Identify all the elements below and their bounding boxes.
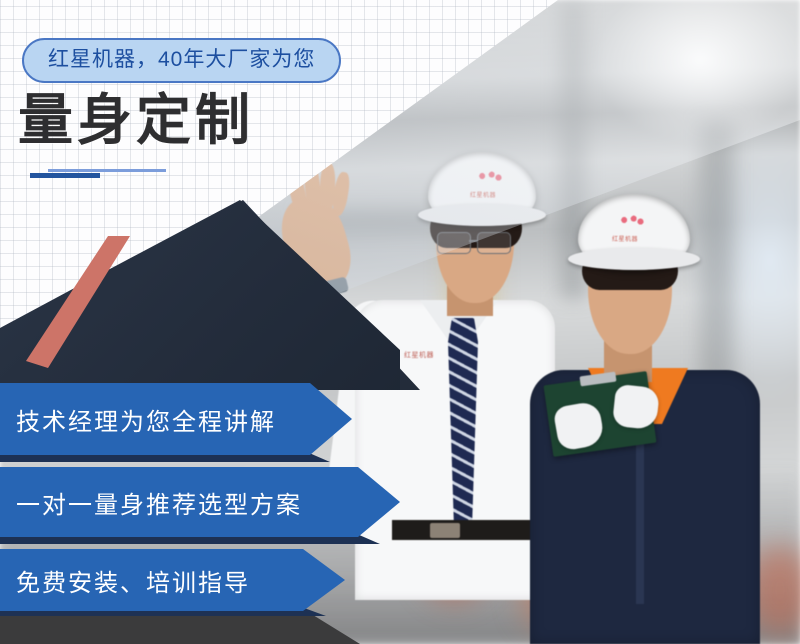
technician-helmet-logo-text: 红星机器 xyxy=(612,234,638,243)
tagline-badge: 红星机器，40年大厂家为您 xyxy=(22,38,341,83)
title-underline-dark xyxy=(30,173,100,178)
feature-banner-2-label: 一对一量身推荐选型方案 xyxy=(0,485,302,520)
engineer-helmet-logo-icon xyxy=(472,168,506,188)
engineer-helmet-brim xyxy=(418,204,546,226)
engineer-shirt-logo: 红星机器 xyxy=(404,350,434,360)
technician-helmet-brim xyxy=(568,248,700,270)
feature-banner-1: 技术经理为您全程讲解 xyxy=(0,383,352,455)
title-underline-light xyxy=(48,169,166,172)
engineer-belt-buckle xyxy=(430,523,460,538)
feature-banner-3-label: 免费安装、培训指导 xyxy=(0,563,250,598)
feature-banner-2: 一对一量身推荐选型方案 xyxy=(0,467,400,537)
feature-banner-1-label: 技术经理为您全程讲解 xyxy=(0,402,276,437)
technician-helmet-logo-icon xyxy=(614,212,648,232)
promo-banner: 红星机器 红星机器 红星机器 xyxy=(0,0,800,644)
feature-banner-3: 免费安装、培训指导 xyxy=(0,549,345,611)
page-title: 量身定制 xyxy=(18,92,254,150)
engineer-belt xyxy=(392,520,532,540)
engineer-glasses-left xyxy=(437,232,471,254)
engineer-helmet-logo-text: 红星机器 xyxy=(470,190,496,199)
engineer-glasses-right xyxy=(477,232,511,254)
engineer-glasses-bridge xyxy=(469,240,477,242)
